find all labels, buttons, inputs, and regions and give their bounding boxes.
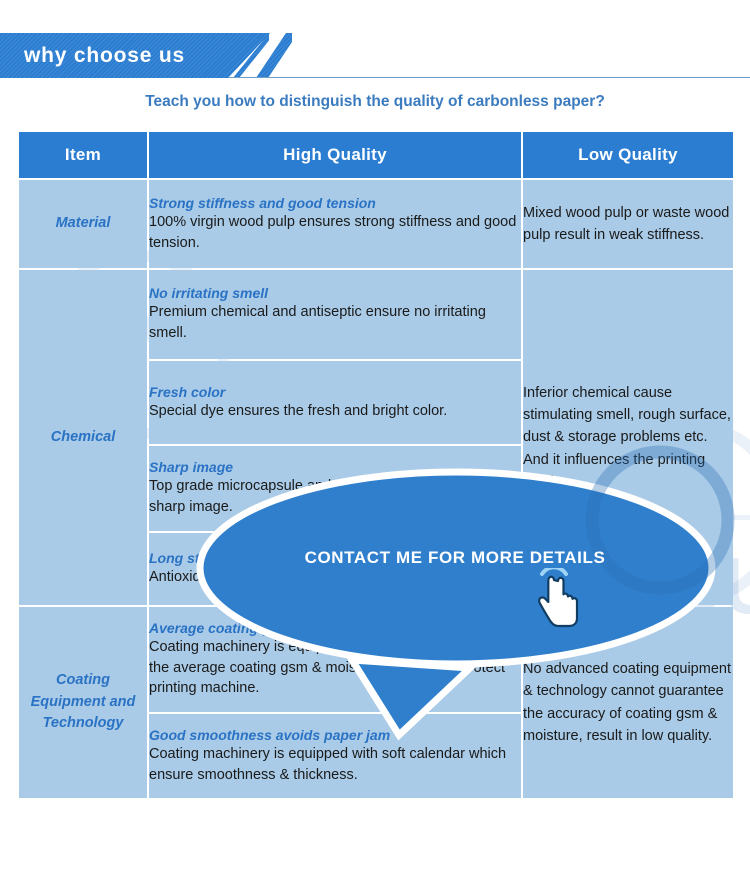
header-banner: why choose us: [0, 33, 750, 78]
cell-high-coating-smoothness: Good smoothness avoids paper jam Coating…: [149, 714, 521, 798]
cell-low-material: Mixed wood pulp or waste wood pulp resul…: [523, 180, 733, 268]
cell-high-chemical-color: Fresh color Special dye ensures the fres…: [149, 361, 521, 444]
cell-high-chemical-image: Sharp image Top grade microcapsule and C…: [149, 446, 521, 531]
row-item-material: Material: [19, 180, 147, 268]
table-row: Coating Equipment and Technology Average…: [19, 607, 733, 712]
cell-high-material: Strong stiffness and good tension 100% v…: [149, 180, 521, 268]
banner-underline-rule: [228, 77, 750, 78]
table-row: Chemical No irritating smell Premium che…: [19, 270, 733, 359]
cell-high-chemical-smell: No irritating smell Premium chemical and…: [149, 270, 521, 359]
row-item-chemical: Chemical: [19, 270, 147, 605]
banner-title: why choose us: [24, 33, 185, 78]
page-title: Teach you how to distinguish the quality…: [0, 93, 750, 111]
cell-low-coating: No advanced coating equipment & technolo…: [523, 607, 733, 798]
table-row: Material Strong stiffness and good tensi…: [19, 180, 733, 268]
quality-comparison-table: Item High Quality Low Quality Material S…: [17, 130, 735, 800]
table-header-row: Item High Quality Low Quality: [19, 132, 733, 178]
column-header-item: Item: [19, 132, 147, 178]
cell-high-chemical-storage: Long storage life Antioxidant ensures th…: [149, 533, 521, 605]
cell-low-chemical: Inferior chemical cause stimulating smel…: [523, 270, 733, 605]
column-header-high-quality: High Quality: [149, 132, 521, 178]
column-header-low-quality: Low Quality: [523, 132, 733, 178]
cell-high-coating-average: Average coating gsm & moisture Coating m…: [149, 607, 521, 712]
row-item-coating: Coating Equipment and Technology: [19, 607, 147, 798]
